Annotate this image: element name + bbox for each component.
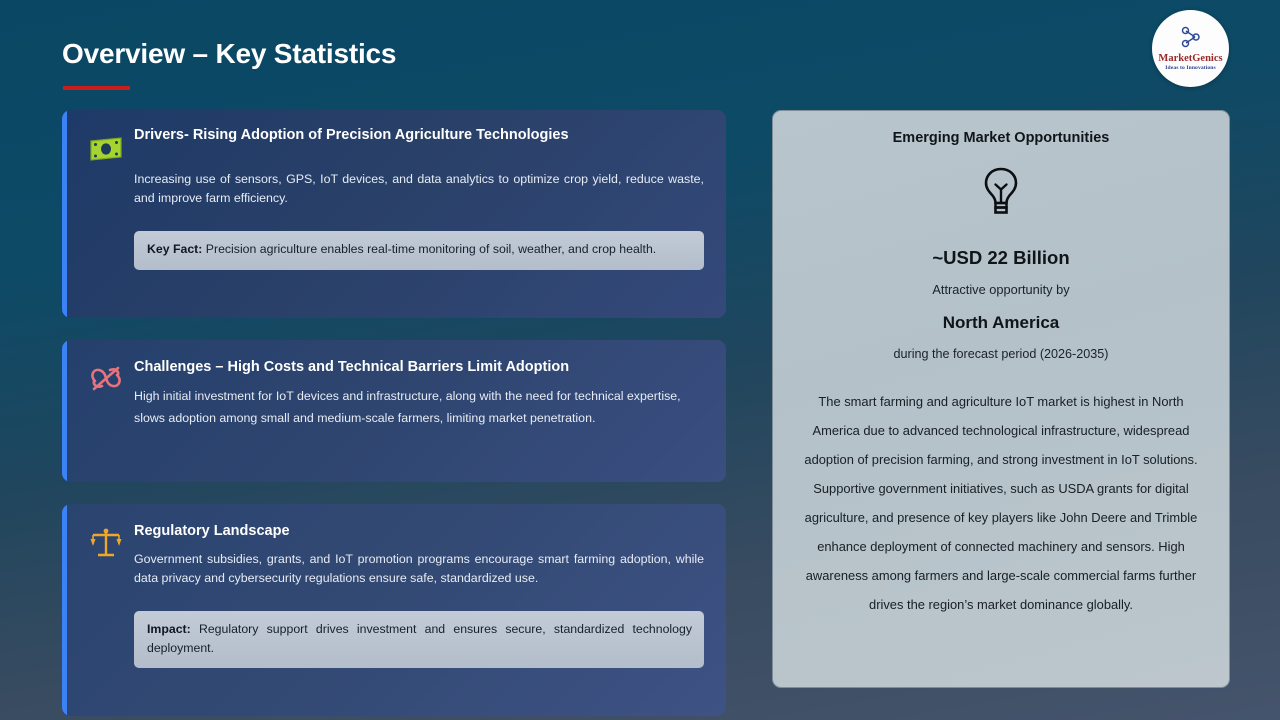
card-body-text: High initial investment for IoT devices … [134,386,704,429]
network-nodes-icon [1178,26,1204,53]
callout-label: Impact: [147,622,191,636]
card-title: Drivers- Rising Adoption of Precision Ag… [134,126,704,145]
logo-wordmark: MarketGenics [1158,54,1222,65]
brand-logo: MarketGenics Ideas to Innovations [1152,10,1229,87]
opportunity-subtitle: Attractive opportunity by [791,282,1211,297]
key-statistics-card-list: Drivers- Rising Adoption of Precision Ag… [62,110,726,720]
market-value: ~USD 22 Billion [791,247,1211,269]
panel-description: The smart farming and agriculture IoT ma… [791,387,1211,619]
callout-text: Precision agriculture enables real-time … [202,242,656,256]
broken-link-icon [87,360,125,398]
impact-callout: Impact: Regulatory support drives invest… [134,611,704,668]
callout-text: Regulatory support drives investment and… [147,622,692,654]
card-title: Challenges – High Costs and Technical Ba… [134,358,704,377]
logo-tagline: Ideas to Innovations [1165,66,1216,72]
callout-label: Key Fact: [147,242,202,256]
card-body-text: Increasing use of sensors, GPS, IoT devi… [134,170,704,208]
page-title: Overview – Key Statistics [62,38,396,70]
forecast-period: during the forecast period (2026-2035) [791,347,1211,361]
card-body-text: Government subsidies, grants, and IoT pr… [134,550,704,588]
card-drivers[interactable]: Drivers- Rising Adoption of Precision Ag… [62,110,726,318]
lightbulb-icon [973,163,1029,219]
card-regulatory[interactable]: Regulatory Landscape Government subsidie… [62,504,726,716]
title-underline-rule [63,86,130,90]
card-challenges[interactable]: Challenges – High Costs and Technical Ba… [62,340,726,482]
region-name: North America [791,313,1211,333]
money-banknote-icon [87,130,125,168]
key-fact-callout: Key Fact: Precision agriculture enables … [134,231,704,269]
balance-scale-icon [87,524,125,562]
emerging-market-opportunities-panel: Emerging Market Opportunities ~USD 22 Bi… [772,110,1230,688]
card-title: Regulatory Landscape [134,522,704,541]
panel-title: Emerging Market Opportunities [791,130,1211,146]
